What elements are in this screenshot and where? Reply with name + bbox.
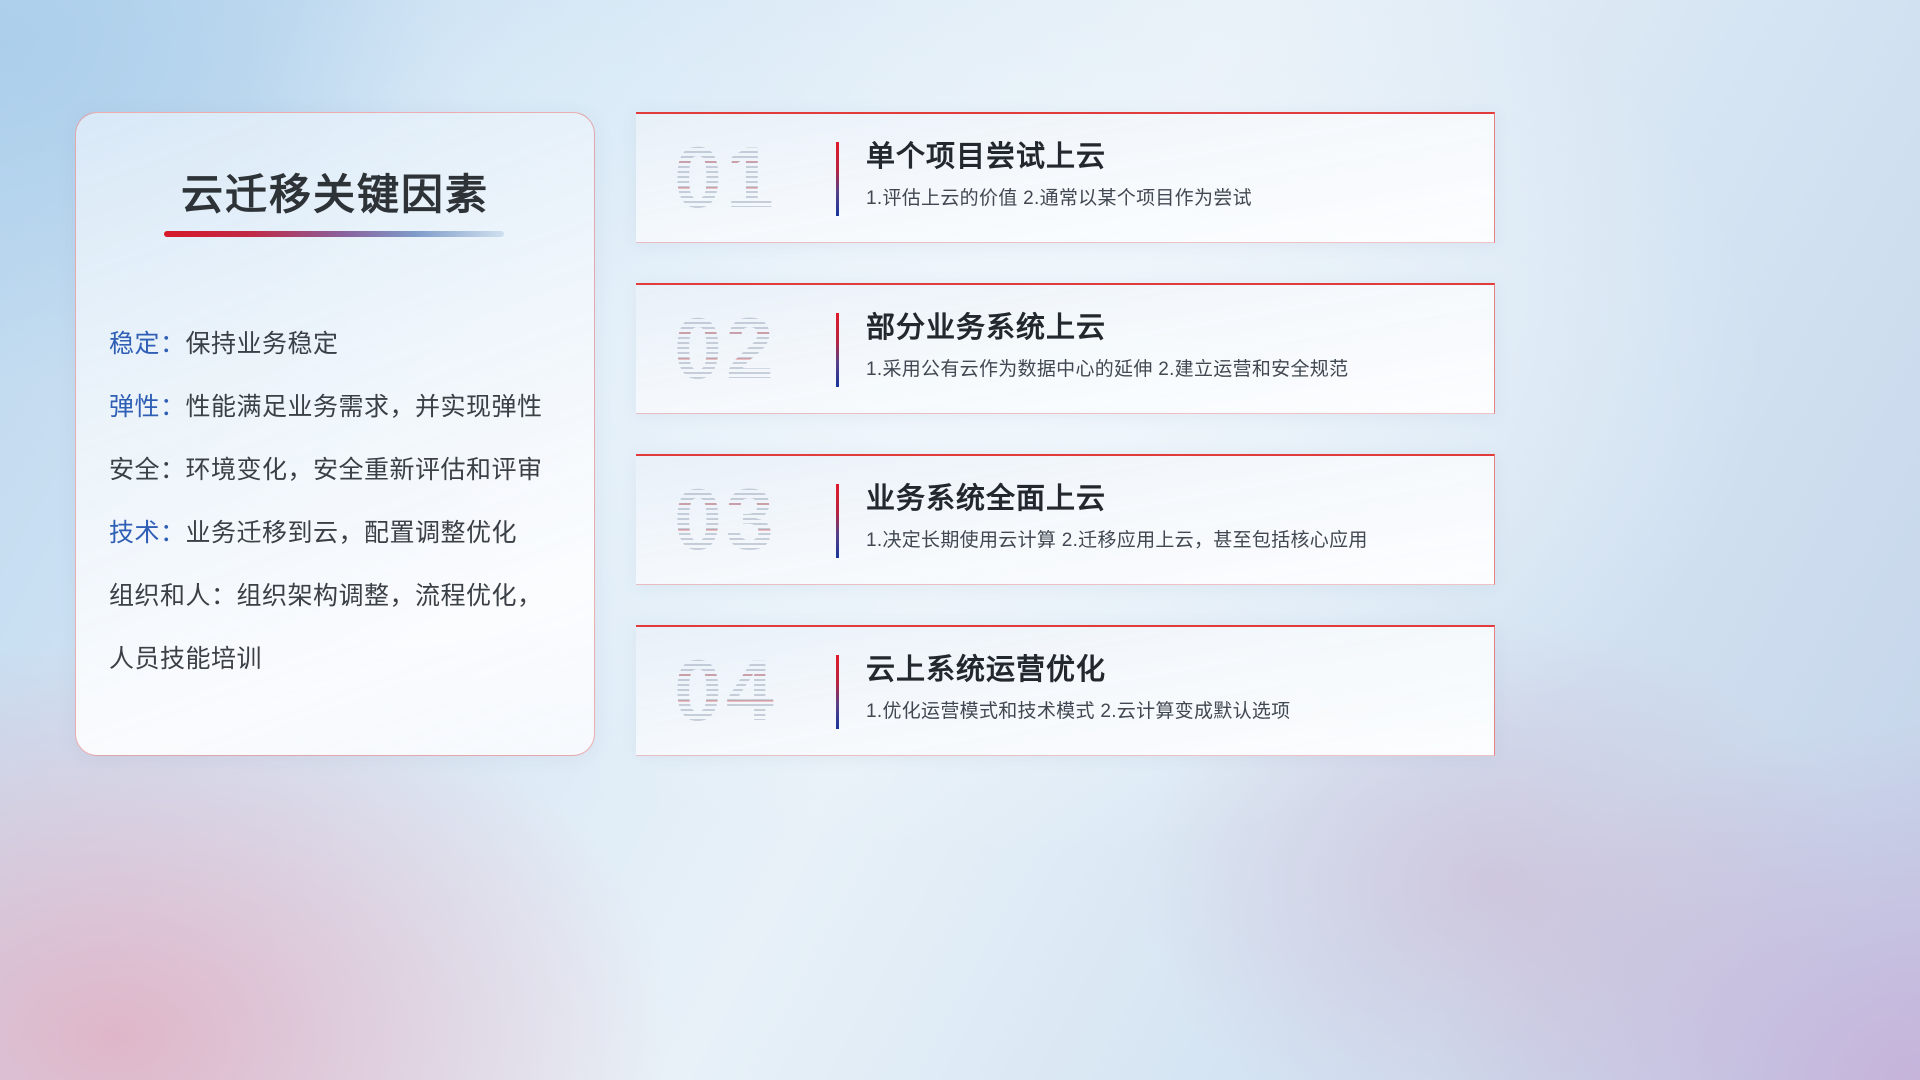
key-factor-label: 弹性： [109, 393, 186, 421]
key-factors-panel: 云迁移关键因素 稳定：保持业务稳定弹性：性能满足业务需求，并实现弹性安全：环境变… [75, 112, 595, 756]
key-factor-text: 组织架构调整，流程优化， [237, 582, 543, 610]
key-factor-line: 技术：业务迁移到云，配置调整优化 [109, 502, 570, 565]
key-factor-text: 人员技能培训 [109, 645, 262, 673]
key-factor-text: 保持业务稳定 [186, 330, 339, 358]
key-factor-label: 安全： [109, 456, 186, 484]
key-factor-line: 稳定：保持业务稳定 [109, 313, 570, 376]
stage-card-body: 业务系统全面上云1.决定长期使用云计算 2.迁移应用上云，甚至包括核心应用 [866, 478, 1476, 558]
title-underline-rule [164, 231, 504, 237]
stage-title: 云上系统运营优化 [866, 649, 1476, 691]
stage-accent-bar [836, 484, 839, 558]
stage-card[interactable]: 0303业务系统全面上云1.决定长期使用云计算 2.迁移应用上云，甚至包括核心应… [636, 454, 1495, 585]
panel-title: 云迁移关键因素 [76, 161, 594, 222]
stage-number-ghost-red: 02 [674, 297, 859, 401]
key-factor-line: 安全：环境变化，安全重新评估和评审 [109, 439, 570, 502]
stage-card-body: 部分业务系统上云1.采用公有云作为数据中心的延伸 2.建立运营和安全规范 [866, 307, 1476, 387]
key-factor-label: 稳定： [109, 330, 186, 358]
stage-number-ghost-red: 01 [674, 126, 859, 230]
stage-description: 1.采用公有云作为数据中心的延伸 2.建立运营和安全规范 [866, 353, 1476, 387]
stages-card-list: 0101单个项目尝试上云1.评估上云的价值 2.通常以某个项目作为尝试0202部… [636, 112, 1496, 796]
key-factor-line: 组织和人：组织架构调整，流程优化， [109, 565, 570, 628]
stage-accent-bar [836, 142, 839, 216]
stage-title: 业务系统全面上云 [866, 478, 1476, 520]
stage-number-ghost-red: 03 [674, 468, 859, 572]
stage-description: 1.优化运营模式和技术模式 2.云计算变成默认选项 [866, 695, 1476, 729]
stage-card[interactable]: 0202部分业务系统上云1.采用公有云作为数据中心的延伸 2.建立运营和安全规范 [636, 283, 1495, 414]
stage-card[interactable]: 0101单个项目尝试上云1.评估上云的价值 2.通常以某个项目作为尝试 [636, 112, 1495, 243]
stage-card-body: 单个项目尝试上云1.评估上云的价值 2.通常以某个项目作为尝试 [866, 136, 1476, 216]
key-factor-text: 业务迁移到云，配置调整优化 [186, 519, 518, 547]
stage-accent-bar [836, 313, 839, 387]
key-factor-line: 弹性：性能满足业务需求，并实现弹性 [109, 376, 570, 439]
stage-description: 1.决定长期使用云计算 2.迁移应用上云，甚至包括核心应用 [866, 524, 1476, 558]
stage-number-ghost-red: 04 [674, 639, 859, 743]
stage-description: 1.评估上云的价值 2.通常以某个项目作为尝试 [866, 182, 1476, 216]
stage-title: 部分业务系统上云 [866, 307, 1476, 349]
stage-title: 单个项目尝试上云 [866, 136, 1476, 178]
stage-card-body: 云上系统运营优化1.优化运营模式和技术模式 2.云计算变成默认选项 [866, 649, 1476, 729]
stage-accent-bar [836, 655, 839, 729]
key-factor-text: 环境变化，安全重新评估和评审 [186, 456, 543, 484]
key-factor-label: 组织和人： [109, 582, 237, 610]
key-factor-line: 人员技能培训 [109, 628, 570, 691]
key-factor-text: 性能满足业务需求，并实现弹性 [186, 393, 543, 421]
key-factor-label: 技术： [109, 519, 186, 547]
key-factors-list: 稳定：保持业务稳定弹性：性能满足业务需求，并实现弹性安全：环境变化，安全重新评估… [109, 313, 570, 691]
stage-card[interactable]: 0404云上系统运营优化1.优化运营模式和技术模式 2.云计算变成默认选项 [636, 625, 1495, 756]
